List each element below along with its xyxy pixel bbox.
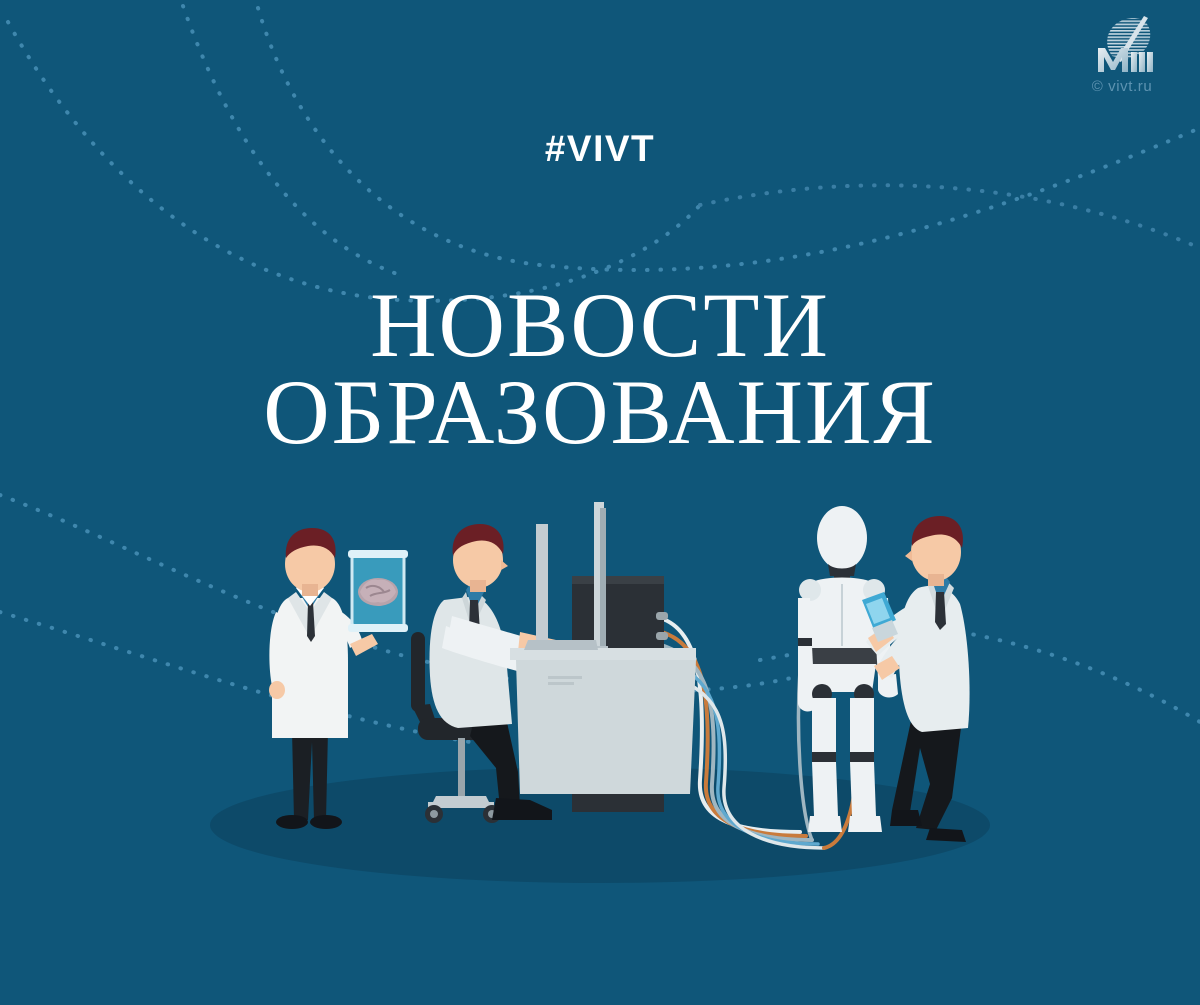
desk-front-panel (516, 660, 696, 794)
page-title: НОВОСТИ ОБРАЗОВАНИЯ (0, 282, 1200, 457)
robot-belt (806, 648, 878, 664)
page-title-line-2: ОБРАЗОВАНИЯ (0, 369, 1200, 456)
page-title-line-1: НОВОСТИ (0, 282, 1200, 369)
brain-jar (348, 550, 408, 632)
workstation-equipment (510, 502, 696, 812)
ai-research-lab-scene (0, 480, 1200, 900)
poster-canvas: .dots{fill:none;stroke:#3f87ad;stroke-wi… (0, 0, 1200, 1005)
hashtag-label: #VIVT (0, 128, 1200, 170)
